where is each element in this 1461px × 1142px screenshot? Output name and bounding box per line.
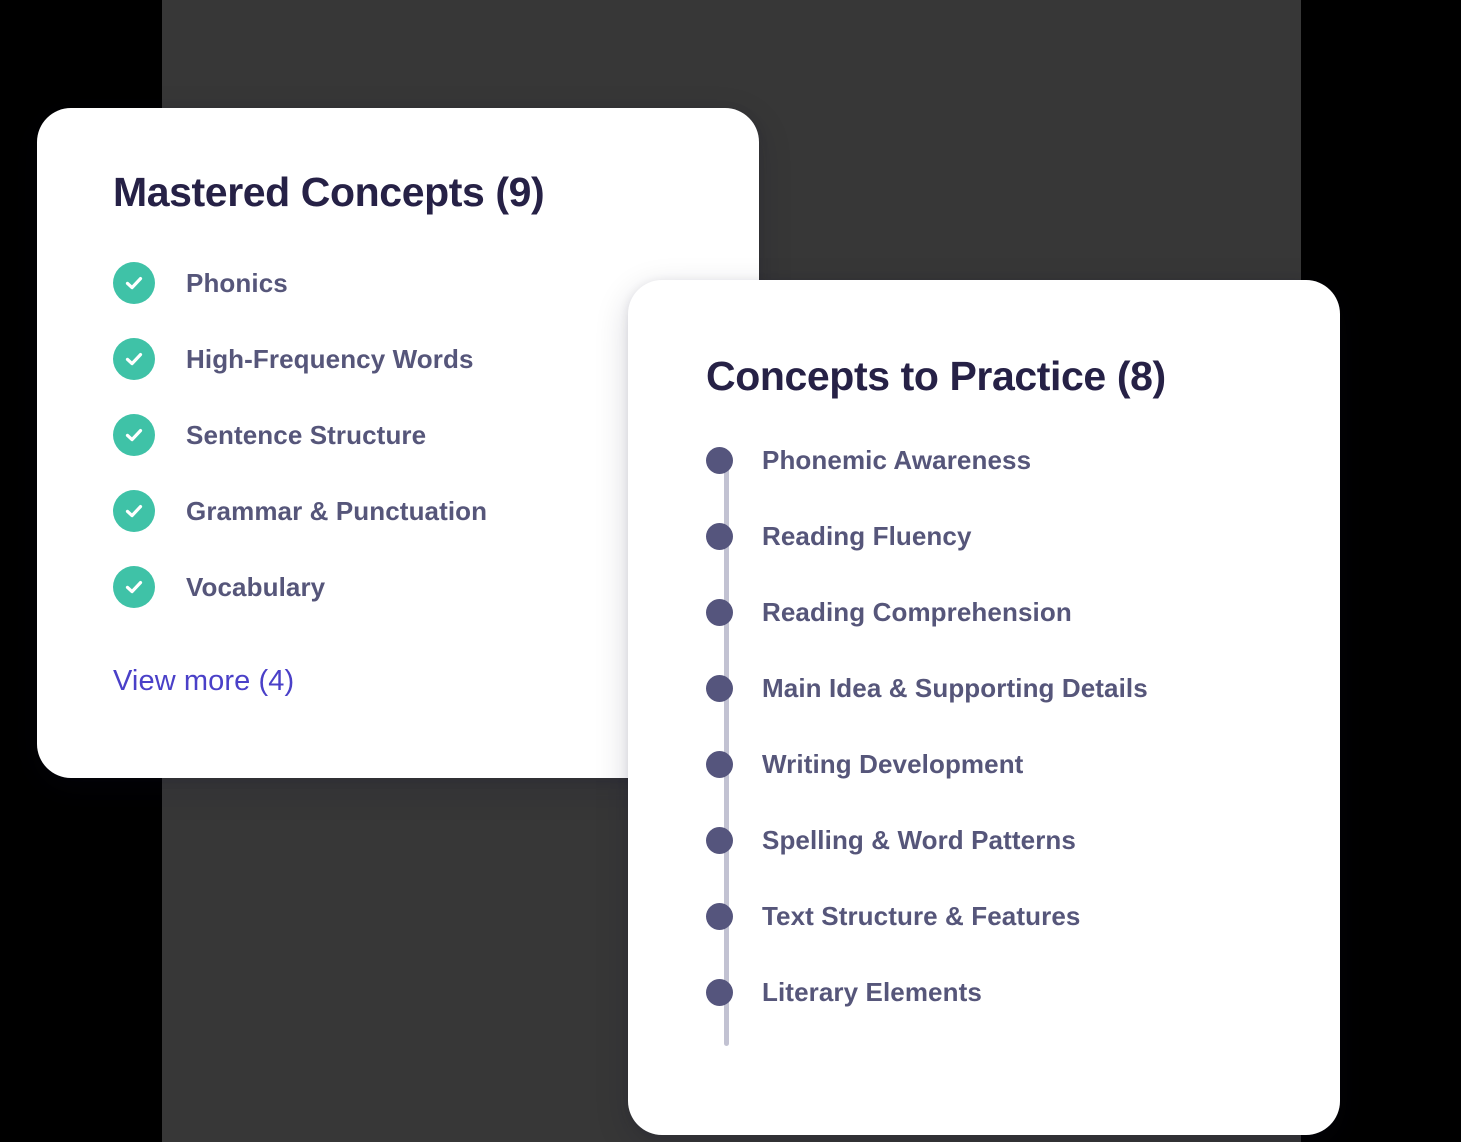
practice-item-label: Main Idea & Supporting Details [762,673,1148,704]
check-circle-icon [113,566,155,608]
mastered-item-label: Phonics [186,268,288,299]
screen-background: Mastered Concepts (9) Phonics High-Frequ… [0,0,1461,1142]
check-circle-icon [113,338,155,380]
list-item[interactable]: Text Structure & Features [706,901,1340,931]
mastered-item-label: High-Frequency Words [186,344,474,375]
timeline-dot-icon [706,751,733,778]
list-item[interactable]: Reading Fluency [706,521,1340,551]
mastered-concepts-title: Mastered Concepts (9) [113,170,759,215]
practice-item-label: Literary Elements [762,977,982,1008]
practice-item-label: Phonemic Awareness [762,445,1031,476]
practice-item-label: Spelling & Word Patterns [762,825,1076,856]
list-item[interactable]: Phonemic Awareness [706,445,1340,475]
concepts-to-practice-title: Concepts to Practice (8) [706,354,1340,399]
timeline-dot-icon [706,675,733,702]
list-item[interactable]: Literary Elements [706,977,1340,1007]
view-more-link[interactable]: View more (4) [113,665,294,698]
practice-item-label: Text Structure & Features [762,901,1080,932]
timeline-dot-icon [706,523,733,550]
timeline-dot-icon [706,827,733,854]
timeline-dot-icon [706,599,733,626]
timeline-dot-icon [706,447,733,474]
list-item[interactable]: Main Idea & Supporting Details [706,673,1340,703]
mastered-item-label: Vocabulary [186,572,325,603]
practice-item-label: Writing Development [762,749,1023,780]
practice-item-label: Reading Fluency [762,521,972,552]
check-circle-icon [113,490,155,532]
list-item[interactable]: Writing Development [706,749,1340,779]
check-circle-icon [113,414,155,456]
concepts-to-practice-timeline: Phonemic Awareness Reading Fluency Readi… [706,445,1340,1007]
timeline-dot-icon [706,903,733,930]
check-circle-icon [113,262,155,304]
mastered-item-label: Sentence Structure [186,420,426,451]
timeline-dot-icon [706,979,733,1006]
mastered-item-label: Grammar & Punctuation [186,496,487,527]
list-item[interactable]: Reading Comprehension [706,597,1340,627]
list-item[interactable]: Spelling & Word Patterns [706,825,1340,855]
practice-item-label: Reading Comprehension [762,597,1072,628]
concepts-to-practice-card: Concepts to Practice (8) Phonemic Awaren… [628,280,1340,1135]
